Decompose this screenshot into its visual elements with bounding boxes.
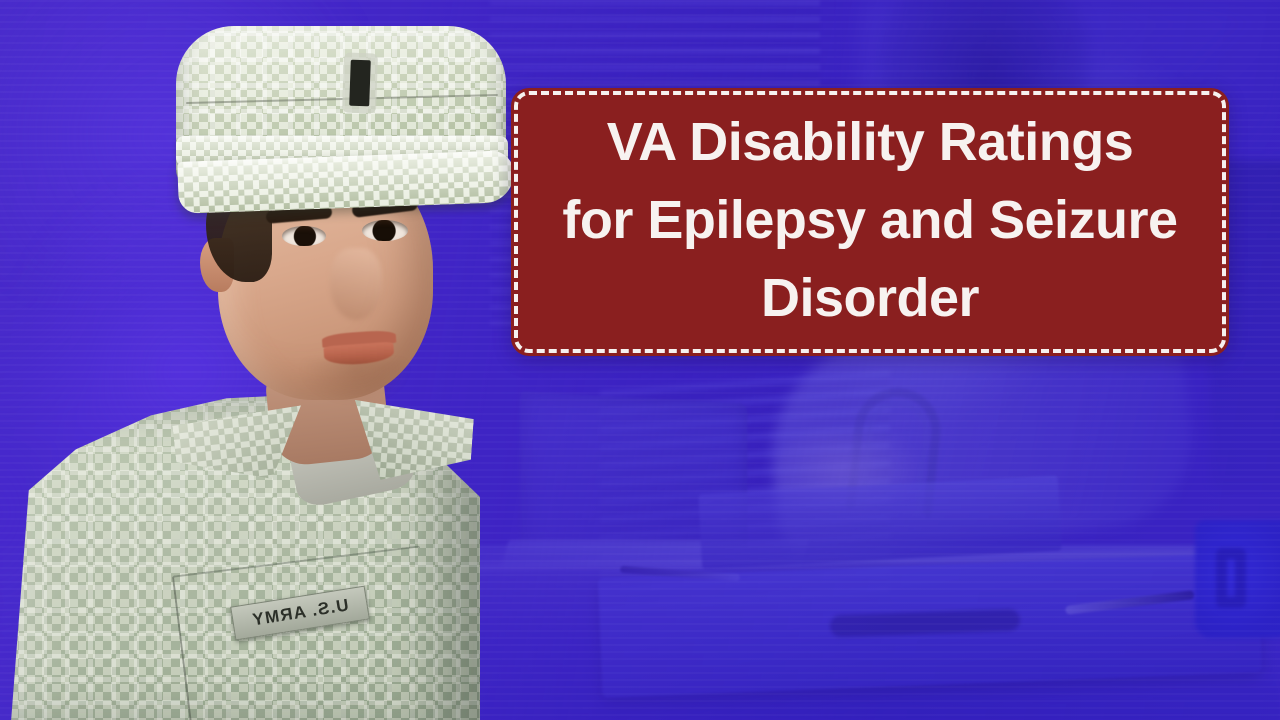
soldier-cutout: U.S. ARMY <box>0 0 560 720</box>
title-line-3: Disorder <box>761 259 979 337</box>
thumbnail-stage: U.S. ARMY VA Disability Ratings for Epil… <box>0 0 1280 720</box>
title-line-1: VA Disability Ratings <box>607 103 1134 181</box>
soldier-cap-rank-insignia <box>349 60 371 107</box>
title-card: VA Disability Ratings for Epilepsy and S… <box>511 88 1229 356</box>
soldier-eye-left <box>282 226 326 246</box>
title-heading: VA Disability Ratings for Epilepsy and S… <box>511 88 1229 356</box>
title-line-2: for Epilepsy and Seizure <box>562 181 1177 259</box>
soldier-cap-brim <box>177 150 515 214</box>
soldier-chest-pocket <box>172 545 438 720</box>
soldier-chin-shadow <box>300 360 410 404</box>
soldier-eye-right <box>362 220 408 241</box>
soldier-nose <box>330 248 382 320</box>
